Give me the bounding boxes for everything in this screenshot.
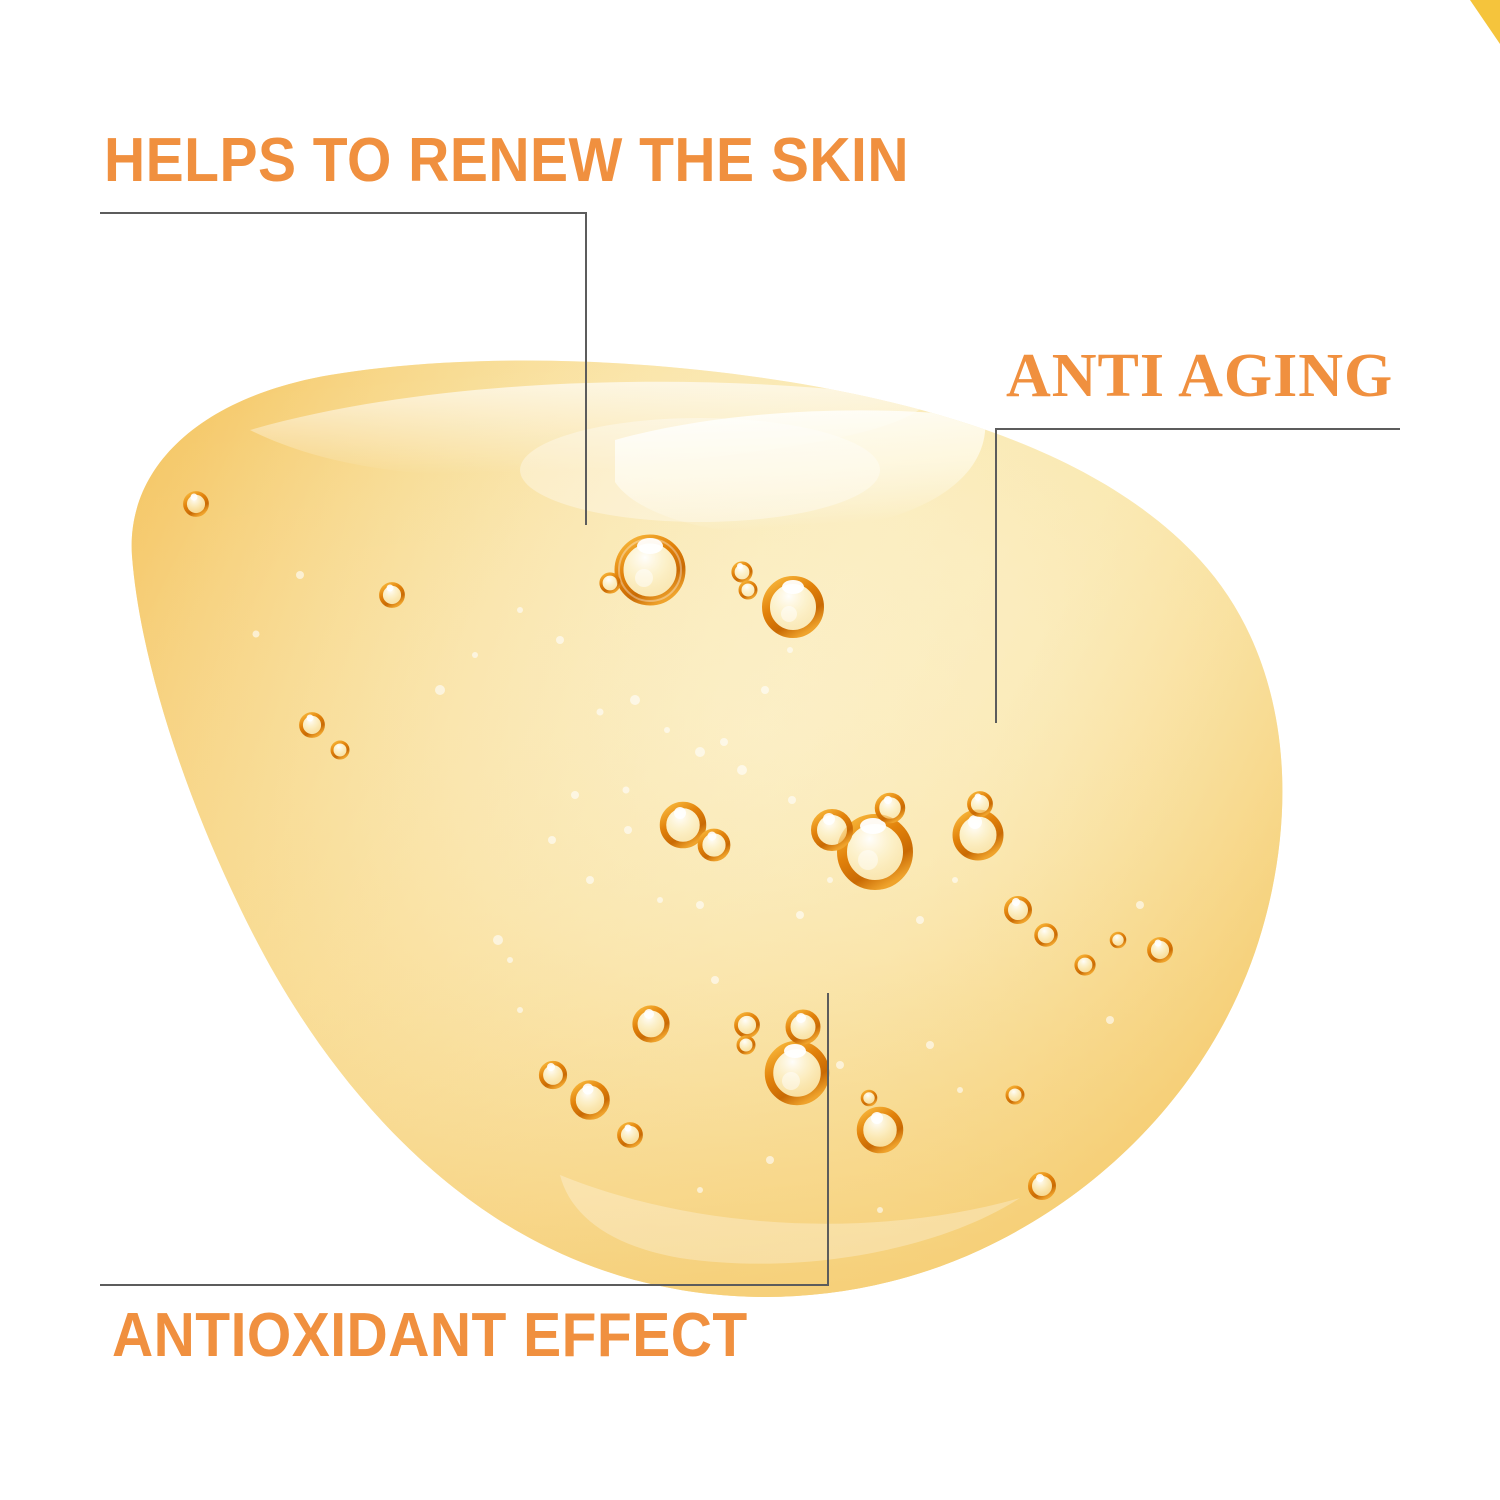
callout-label-antioxidant: ANTIOXIDANT EFFECT: [112, 1305, 748, 1367]
infographic-canvas: HELPS TO RENEW THE SKIN ANTI AGING ANTIO…: [0, 0, 1500, 1500]
corner-accent-triangle: [1470, 0, 1500, 44]
callout-label-renew: HELPS TO RENEW THE SKIN: [104, 130, 909, 192]
leader-line-icon-anti-aging-vertical: [995, 428, 997, 723]
leader-line-icon-renew-horizontal: [100, 212, 587, 214]
leader-line-icon-anti-aging-horizontal: [995, 428, 1400, 430]
leader-line-icon-renew-vertical: [585, 212, 587, 525]
leader-line-icon-antioxidant-horizontal: [100, 1284, 829, 1286]
serum-oil-drop-swatch: [0, 0, 1500, 1500]
leader-line-icon-antioxidant-vertical: [827, 993, 829, 1285]
callout-label-anti-aging: ANTI AGING: [1006, 345, 1393, 407]
